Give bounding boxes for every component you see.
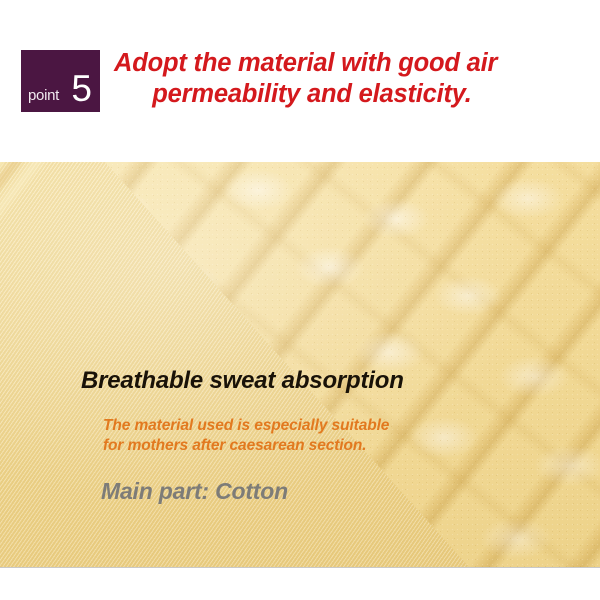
sub-headline: Breathable sweat absorption <box>81 367 404 395</box>
description-blurb: The material used is especially suitable… <box>103 416 389 456</box>
headline-line-1: Adopt the material with good air <box>112 48 582 79</box>
footer-whitespace <box>0 568 600 600</box>
photo-text-overlay: Breathable sweat absorption The material… <box>0 162 600 567</box>
description-line-1: The material used is especially suitable <box>103 416 389 436</box>
point-badge-inner: point 5 <box>21 50 100 112</box>
fabric-photo: Breathable sweat absorption The material… <box>0 162 600 568</box>
page-root: point 5 Adopt the material with good air… <box>0 0 600 600</box>
point-badge-word: point <box>28 88 59 103</box>
point-badge-number: 5 <box>71 70 92 107</box>
main-part-label: Main part: Cotton <box>101 477 288 505</box>
description-line-2: for mothers after caesarean section. <box>103 436 389 456</box>
headline: Adopt the material with good air permeab… <box>112 48 582 110</box>
header-banner: point 5 Adopt the material with good air… <box>0 0 600 162</box>
point-badge: point 5 <box>21 50 100 112</box>
headline-line-2: permeability and elasticity. <box>112 79 582 110</box>
